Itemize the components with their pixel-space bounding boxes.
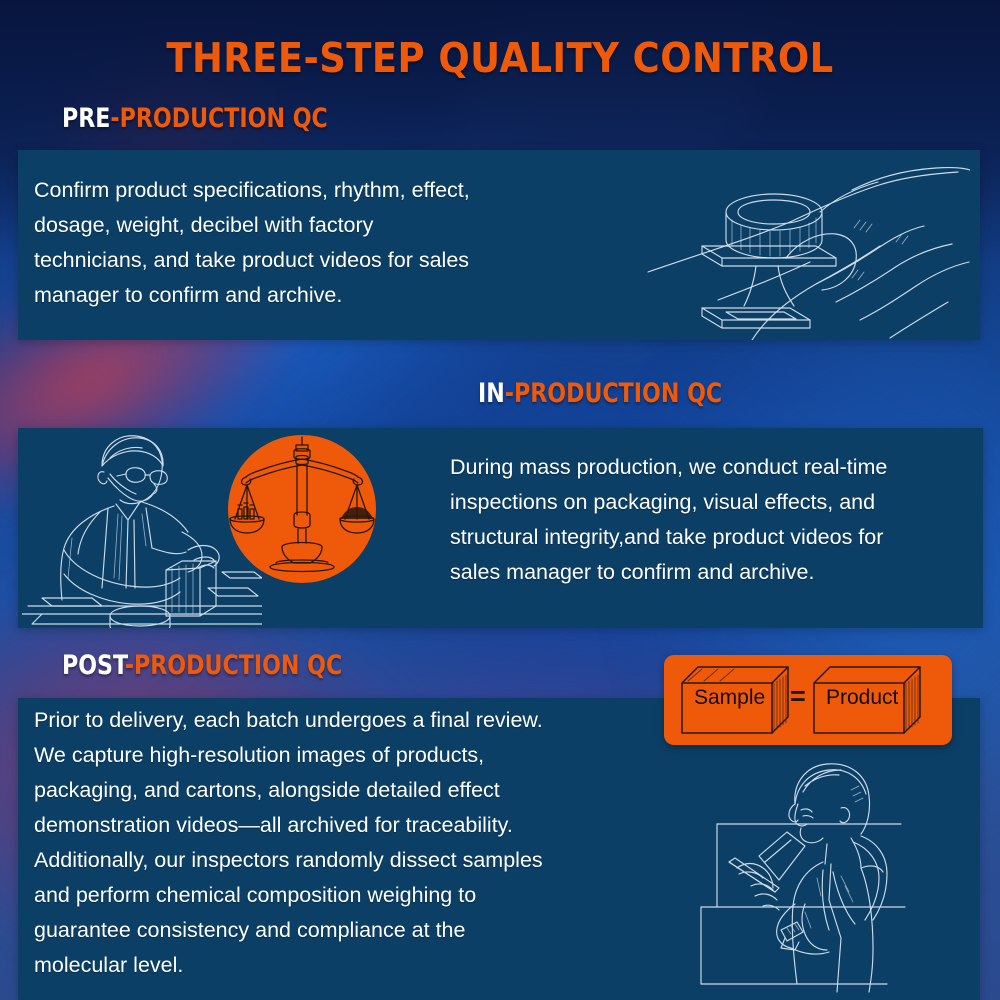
section-heading-post-production: POST-PRODUCTION QC — [62, 650, 342, 681]
section-heading-post-production-orange: -PRODUCTION QC — [125, 650, 342, 681]
equals-sign: = — [790, 681, 806, 712]
man-with-tablet-sketch — [655, 752, 985, 1000]
section-heading-in-production-orange: -PRODUCTION QC — [505, 378, 722, 409]
sample-box-label: Sample — [694, 686, 765, 710]
body-text-post-production: Prior to delivery, each batch undergoes … — [34, 703, 664, 983]
section-heading-pre-production-white: PRE — [62, 103, 110, 134]
page-title: THREE-STEP QUALITY CONTROL — [50, 34, 950, 82]
section-heading-post-production-white: POST — [62, 650, 125, 681]
section-heading-in-production-white: IN — [478, 378, 505, 409]
sample-equals-product-banner: Sample = Product — [664, 655, 952, 745]
section-heading-in-production: IN-PRODUCTION QC — [478, 378, 722, 409]
body-text-in-production: During mass production, we conduct real-… — [450, 450, 990, 590]
hand-holding-device-sketch — [640, 150, 970, 340]
balance-scale-icon — [228, 435, 376, 583]
worker-inspecting-sketch — [22, 428, 262, 628]
product-box-label: Product — [826, 686, 898, 710]
section-heading-pre-production-orange: -PRODUCTION QC — [110, 103, 327, 134]
body-text-pre-production: Confirm product specifications, rhythm, … — [34, 173, 634, 313]
section-heading-pre-production: PRE-PRODUCTION QC — [62, 103, 328, 134]
